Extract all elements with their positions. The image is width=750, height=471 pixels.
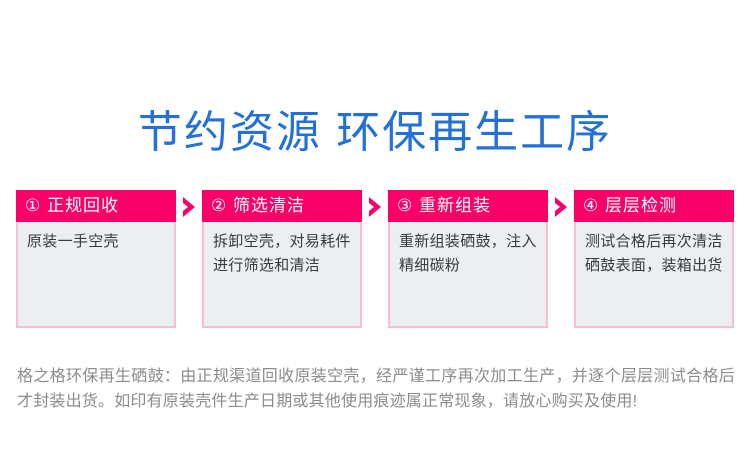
footnote-paragraph: 格之格环保再生硒鼓：由正规渠道回收原装空壳，经严谨工序再次加工生产，并逐个层层测… xyxy=(17,364,735,414)
step-body-4: 测试合格后再次清洁硒鼓表面，装箱出货 xyxy=(576,222,732,326)
step-card-1: ① 正规回收 原装一手空壳 xyxy=(16,190,176,328)
page-title-container: 节约资源 环保再生工序 xyxy=(0,78,750,189)
step-body-1: 原装一手空壳 xyxy=(18,222,174,326)
step-header-2: ② 筛选清洁 xyxy=(202,190,362,222)
step-header-3: ③ 重新组装 xyxy=(388,190,548,222)
step-card-4: ④ 层层检测 测试合格后再次清洁硒鼓表面，装箱出货 xyxy=(574,190,734,328)
process-steps-row: ① 正规回收 原装一手空壳 ② 筛选清洁 拆卸空壳，对易耗件进行筛选和清洁 ③ … xyxy=(16,190,734,328)
step-header-1: ① 正规回收 xyxy=(16,190,176,222)
chevron-right-icon-1 xyxy=(176,192,202,222)
step-body-3: 重新组装硒鼓，注入精细碳粉 xyxy=(390,222,546,326)
page-title: 节约资源 环保再生工序 xyxy=(138,107,612,159)
step-card-2: ② 筛选清洁 拆卸空壳，对易耗件进行筛选和清洁 xyxy=(202,190,362,328)
chevron-right-icon-2 xyxy=(362,192,388,222)
step-header-4: ④ 层层检测 xyxy=(574,190,734,222)
promo-page: 节约资源 环保再生工序 ① 正规回收 原装一手空壳 ② 筛选清洁 拆卸空壳，对易… xyxy=(0,0,750,471)
chevron-right-icon-3 xyxy=(548,192,574,222)
step-card-3: ③ 重新组装 重新组装硒鼓，注入精细碳粉 xyxy=(388,190,548,328)
step-body-2: 拆卸空壳，对易耗件进行筛选和清洁 xyxy=(204,222,360,326)
